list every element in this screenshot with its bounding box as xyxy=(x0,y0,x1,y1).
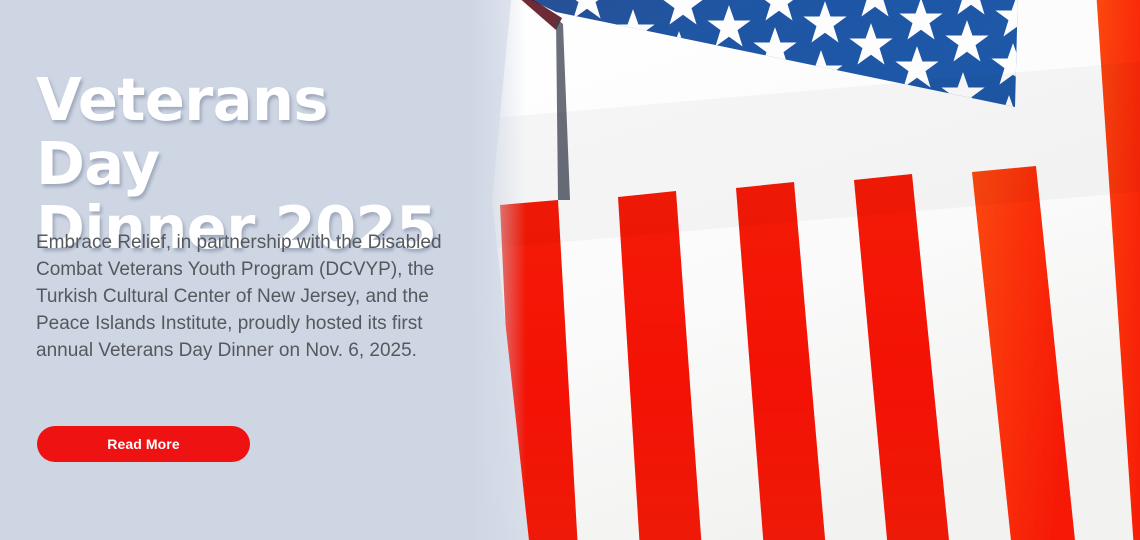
read-more-button[interactable]: Read More xyxy=(37,426,250,462)
flag-body xyxy=(470,0,1140,540)
american-flag-image xyxy=(470,0,1140,540)
flag-illustration xyxy=(470,0,1140,540)
banner-content: Veterans Day Dinner 2025 Embrace Relief,… xyxy=(0,0,480,540)
banner-description: Embrace Relief, in partnership with the … xyxy=(36,229,461,364)
veterans-day-banner: Veterans Day Dinner 2025 Embrace Relief,… xyxy=(0,0,1140,540)
